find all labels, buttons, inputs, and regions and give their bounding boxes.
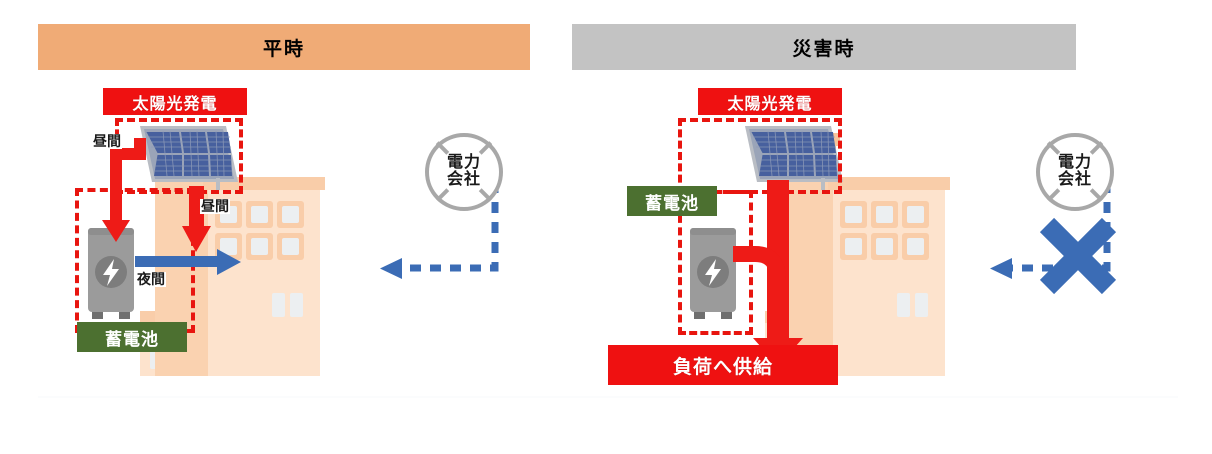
panel-header-normal-label: 平時 xyxy=(263,34,305,61)
panel-header-disaster: 災害時 xyxy=(572,24,1076,70)
building-window-annex-2 xyxy=(290,293,303,317)
building-window-6 xyxy=(277,233,304,260)
building-window-3 xyxy=(277,201,304,228)
building-window-3 xyxy=(902,201,929,228)
building-window-5 xyxy=(871,233,898,260)
battery-label-disaster: 蓄電池 xyxy=(627,186,717,216)
flow-label-daytime-battery-text: 昼間 xyxy=(93,133,121,149)
supply-to-load-label: 負荷へ供給 xyxy=(608,345,838,385)
arrow-supply-to-load xyxy=(725,180,855,370)
diagram-canvas: 平時 災害時 xyxy=(0,0,1212,454)
flow-label-nighttime-building-text: 夜間 xyxy=(137,271,165,287)
utility-label-line1: 電力 xyxy=(447,155,481,172)
panel-header-normal: 平時 xyxy=(38,24,530,70)
utility-label-line1: 電力 xyxy=(1058,155,1092,172)
panel-normal: 電力 会社 太陽光発電 蓄電池 昼間 昼間 夜間 xyxy=(30,80,540,400)
solar-label-disaster-text: 太陽光発電 xyxy=(727,90,812,114)
solar-label-normal-text: 太陽光発電 xyxy=(132,90,217,114)
panel-header-disaster-label: 災害時 xyxy=(792,34,855,61)
building-window-2 xyxy=(246,201,273,228)
building-right-annex xyxy=(264,283,310,323)
panel-disaster: 電力 会社 太陽光発電 蓄電池 負荷へ供給 xyxy=(565,80,1085,400)
battery-label-normal-text: 蓄電池 xyxy=(105,325,159,350)
building-window-5 xyxy=(246,233,273,260)
building-window-annex-1 xyxy=(272,293,285,317)
grid-outage-x-icon xyxy=(1037,215,1119,297)
flow-label-daytime-battery: 昼間 xyxy=(92,134,122,149)
building-window-annex-1 xyxy=(897,293,910,317)
building-window-6 xyxy=(902,233,929,260)
flow-label-nighttime-building: 夜間 xyxy=(136,272,166,287)
solar-label-disaster: 太陽光発電 xyxy=(698,88,842,115)
solar-label-normal: 太陽光発電 xyxy=(103,88,247,115)
flow-label-daytime-building: 昼間 xyxy=(200,199,230,214)
bottom-divider xyxy=(38,396,1178,398)
utility-label-line2: 会社 xyxy=(447,172,481,189)
battery-label-normal: 蓄電池 xyxy=(77,322,187,352)
building-right-annex xyxy=(889,283,935,323)
flow-label-daytime-building-text: 昼間 xyxy=(201,198,229,214)
supply-to-load-label-text: 負荷へ供給 xyxy=(673,352,773,379)
building-window-2 xyxy=(871,201,898,228)
utility-label-line2: 会社 xyxy=(1058,172,1092,189)
building-window-annex-2 xyxy=(915,293,928,317)
battery-label-disaster-text: 蓄電池 xyxy=(645,189,699,214)
